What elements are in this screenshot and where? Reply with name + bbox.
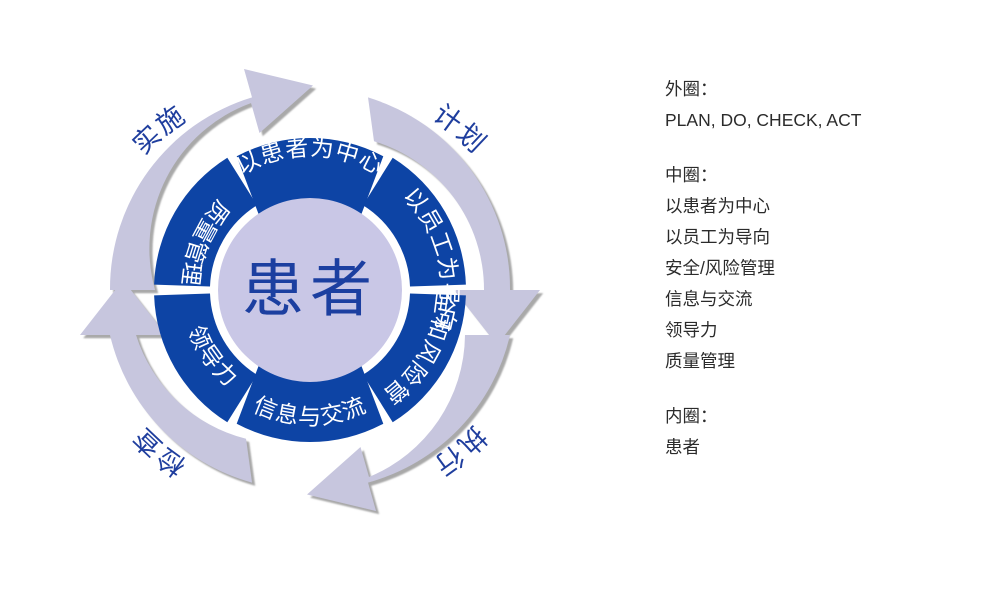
legend-heading-inner: 内圈：	[665, 401, 985, 432]
legend-panel: 外圈： PLAN, DO, CHECK, ACT 中圈： 以患者为中心 以员工为…	[665, 74, 985, 487]
legend-group-outer: 外圈： PLAN, DO, CHECK, ACT	[665, 74, 985, 136]
legend-group-inner: 内圈： 患者	[665, 401, 985, 463]
legend-item-middle-3: 信息与交流	[665, 284, 985, 315]
legend-item-middle-2: 安全/风险管理	[665, 253, 985, 284]
pdca-cycle-diagram: 实施 计划 执行 检查	[0, 0, 620, 600]
legend-group-middle: 中圈： 以患者为中心 以员工为导向 安全/风险管理 信息与交流 领导力 质量管理	[665, 160, 985, 377]
legend-item-middle-1: 以员工为导向	[665, 222, 985, 253]
diagram-canvas: 实施 计划 执行 检查	[0, 0, 620, 600]
legend-heading-middle: 中圈：	[665, 160, 985, 191]
diagram-page: 实施 计划 执行 检查	[0, 0, 1000, 600]
legend-item-inner-0: 患者	[665, 432, 985, 463]
legend-item-outer-0: PLAN, DO, CHECK, ACT	[665, 105, 985, 136]
legend-item-middle-0: 以患者为中心	[665, 191, 985, 222]
legend-item-middle-4: 领导力	[665, 315, 985, 346]
legend-item-middle-5: 质量管理	[665, 346, 985, 377]
legend-heading-outer: 外圈：	[665, 74, 985, 105]
inner-circle-label: 患者	[242, 256, 378, 325]
